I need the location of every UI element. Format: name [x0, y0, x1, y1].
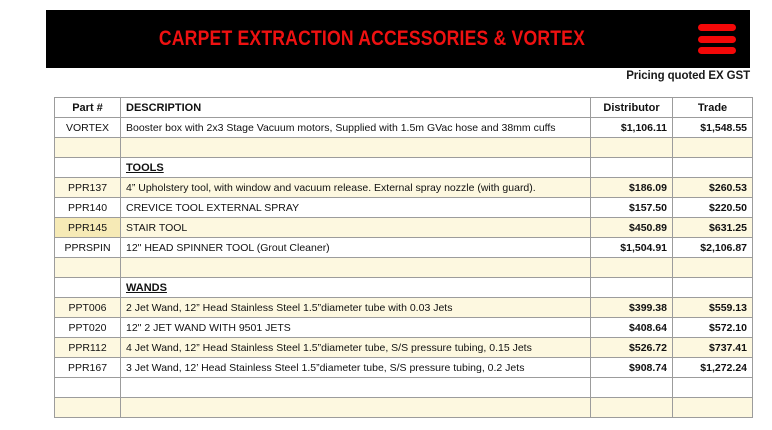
table-row: PPR1673 Jet Wand, 12’ Head Stainless Ste… — [55, 358, 753, 378]
cell-trade-price: $737.41 — [673, 338, 753, 358]
table-body: VORTEXBooster box with 2x3 Stage Vacuum … — [55, 118, 753, 418]
section-header-row: TOOLS — [55, 158, 753, 178]
column-header-trade: Trade — [673, 98, 753, 118]
cell-trade-price: $1,272.24 — [673, 358, 753, 378]
section-label-text: TOOLS — [126, 162, 164, 174]
cell-part-number — [55, 158, 121, 178]
cell-part-number: PPRSPIN — [55, 238, 121, 258]
hamburger-menu-icon[interactable] — [698, 24, 736, 54]
cell-description: 4 Jet Wand, 12” Head Stainless Steel 1.5… — [121, 338, 591, 358]
empty-cell — [673, 378, 753, 398]
cell-description: 4” Upholstery tool, with window and vacu… — [121, 178, 591, 198]
cell-description: Booster box with 2x3 Stage Vacuum motors… — [121, 118, 591, 138]
cell-description: 12" 2 JET WAND WITH 9501 JETS — [121, 318, 591, 338]
cell-part-number: PPR167 — [55, 358, 121, 378]
cell-trade-price — [673, 158, 753, 178]
table-row: PPR1374” Upholstery tool, with window an… — [55, 178, 753, 198]
page-header-banner: CARPET EXTRACTION ACCESSORIES & VORTEX — [46, 10, 750, 68]
empty-cell — [121, 378, 591, 398]
cell-distributor-price: $526.72 — [591, 338, 673, 358]
cell-trade-price: $1,548.55 — [673, 118, 753, 138]
empty-cell — [591, 398, 673, 418]
cell-distributor-price: $399.38 — [591, 298, 673, 318]
table-row: PPR1124 Jet Wand, 12” Head Stainless Ste… — [55, 338, 753, 358]
table-row: PPR145STAIR TOOL$450.89$631.25 — [55, 218, 753, 238]
empty-cell — [591, 378, 673, 398]
cell-distributor-price: $450.89 — [591, 218, 673, 238]
cell-trade-price: $559.13 — [673, 298, 753, 318]
cell-description: 2 Jet Wand, 12” Head Stainless Steel 1.5… — [121, 298, 591, 318]
cell-part-number: PPT006 — [55, 298, 121, 318]
cell-description: CREVICE TOOL EXTERNAL SPRAY — [121, 198, 591, 218]
cell-distributor-price: $408.64 — [591, 318, 673, 338]
table-header: Part # DESCRIPTION Distributor Trade — [55, 98, 753, 118]
table-header-row: Part # DESCRIPTION Distributor Trade — [55, 98, 753, 118]
cell-distributor-price — [591, 158, 673, 178]
spacer-row — [55, 398, 753, 418]
empty-cell — [55, 138, 121, 158]
spacer-row — [55, 138, 753, 158]
empty-cell — [55, 398, 121, 418]
table-row: VORTEXBooster box with 2x3 Stage Vacuum … — [55, 118, 753, 138]
cell-part-number: PPR137 — [55, 178, 121, 198]
empty-cell — [121, 138, 591, 158]
pricing-note: Pricing quoted EX GST — [0, 70, 750, 82]
cell-section-label: WANDS — [121, 278, 591, 298]
empty-cell — [673, 138, 753, 158]
cell-part-number: PPR140 — [55, 198, 121, 218]
empty-cell — [121, 258, 591, 278]
table-row: PPRSPIN12" HEAD SPINNER TOOL (Grout Clea… — [55, 238, 753, 258]
cell-distributor-price: $157.50 — [591, 198, 673, 218]
empty-cell — [591, 138, 673, 158]
cell-part-number: VORTEX — [55, 118, 121, 138]
column-header-distributor: Distributor — [591, 98, 673, 118]
cell-distributor-price: $186.09 — [591, 178, 673, 198]
empty-cell — [55, 378, 121, 398]
cell-distributor-price — [591, 278, 673, 298]
cell-distributor-price: $908.74 — [591, 358, 673, 378]
cell-trade-price: $2,106.87 — [673, 238, 753, 258]
column-header-part: Part # — [55, 98, 121, 118]
empty-cell — [121, 398, 591, 418]
price-table: Part # DESCRIPTION Distributor Trade VOR… — [54, 97, 753, 418]
section-label-text: WANDS — [126, 282, 167, 294]
cell-description: 12" HEAD SPINNER TOOL (Grout Cleaner) — [121, 238, 591, 258]
section-header-row: WANDS — [55, 278, 753, 298]
cell-part-number — [55, 278, 121, 298]
cell-part-number: PPR112 — [55, 338, 121, 358]
cell-trade-price: $260.53 — [673, 178, 753, 198]
hamburger-bar-bottom — [698, 47, 736, 54]
price-table-container: Part # DESCRIPTION Distributor Trade VOR… — [54, 97, 752, 418]
empty-cell — [55, 258, 121, 278]
hamburger-bar-top — [698, 24, 736, 31]
page-title: CARPET EXTRACTION ACCESSORIES & VORTEX — [102, 27, 693, 51]
cell-trade-price — [673, 278, 753, 298]
empty-cell — [673, 398, 753, 418]
table-row: PPT02012" 2 JET WAND WITH 9501 JETS$408.… — [55, 318, 753, 338]
hamburger-bar-middle — [698, 36, 736, 43]
column-header-description: DESCRIPTION — [121, 98, 591, 118]
cell-part-number: PPT020 — [55, 318, 121, 338]
empty-cell — [591, 258, 673, 278]
spacer-row — [55, 258, 753, 278]
cell-trade-price: $631.25 — [673, 218, 753, 238]
cell-description: 3 Jet Wand, 12’ Head Stainless Steel 1.5… — [121, 358, 591, 378]
empty-cell — [673, 258, 753, 278]
cell-section-label: TOOLS — [121, 158, 591, 178]
cell-distributor-price: $1,504.91 — [591, 238, 673, 258]
cell-description: STAIR TOOL — [121, 218, 591, 238]
cell-trade-price: $572.10 — [673, 318, 753, 338]
cell-part-number: PPR145 — [55, 218, 121, 238]
blank-row — [55, 378, 753, 398]
table-row: PPT0062 Jet Wand, 12” Head Stainless Ste… — [55, 298, 753, 318]
cell-distributor-price: $1,106.11 — [591, 118, 673, 138]
table-row: PPR140CREVICE TOOL EXTERNAL SPRAY$157.50… — [55, 198, 753, 218]
cell-trade-price: $220.50 — [673, 198, 753, 218]
